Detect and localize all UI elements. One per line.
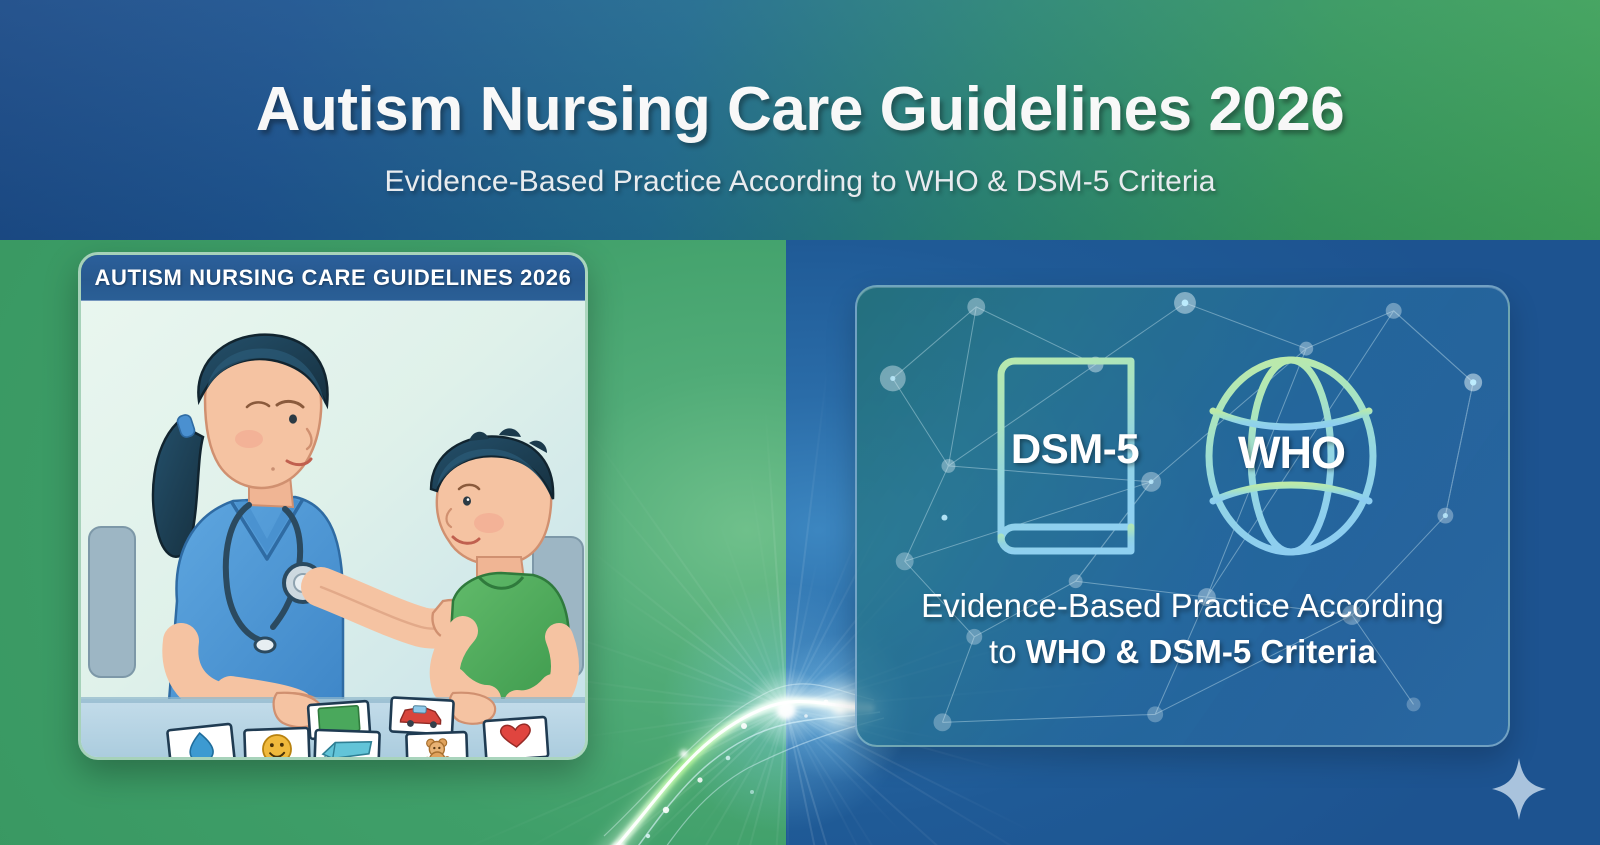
who-label: WHO (1189, 427, 1394, 479)
left-illustration-card[interactable]: AUTISM NURSING CARE GUIDELINES 2026 (78, 252, 588, 760)
panel-caption-line2-bold: WHO & DSM-5 Criteria (1026, 633, 1376, 670)
poster-canvas: Autism Nursing Care Guidelines 2026 Evid… (0, 0, 1600, 845)
page-title: Autism Nursing Care Guidelines 2026 (0, 74, 1600, 145)
four-point-sparkle (1492, 758, 1546, 820)
card-illustration-body (81, 301, 585, 760)
header-banner: Autism Nursing Care Guidelines 2026 Evid… (0, 0, 1600, 240)
nurse-and-child-illustration (81, 301, 585, 760)
content-area: AUTISM NURSING CARE GUIDELINES 2026 (0, 240, 1600, 845)
page-subtitle: Evidence-Based Practice According to WHO… (0, 165, 1600, 199)
right-standards-panel[interactable]: DSM-5 (855, 285, 1510, 747)
card-header-bar: AUTISM NURSING CARE GUIDELINES 2026 (81, 255, 585, 301)
card-header-label: AUTISM NURSING CARE GUIDELINES 2026 (95, 265, 572, 291)
panel-caption: Evidence-Based Practice According to WHO… (875, 587, 1490, 671)
standards-icon-row: DSM-5 (857, 337, 1508, 575)
dsm5-book-icon: DSM-5 (971, 349, 1161, 564)
who-globe-icon: WHO (1189, 349, 1394, 564)
dsm5-label: DSM-5 (971, 425, 1161, 473)
panel-caption-line1: Evidence-Based Practice According (875, 587, 1490, 625)
panel-caption-line2-prefix: to (989, 633, 1026, 670)
